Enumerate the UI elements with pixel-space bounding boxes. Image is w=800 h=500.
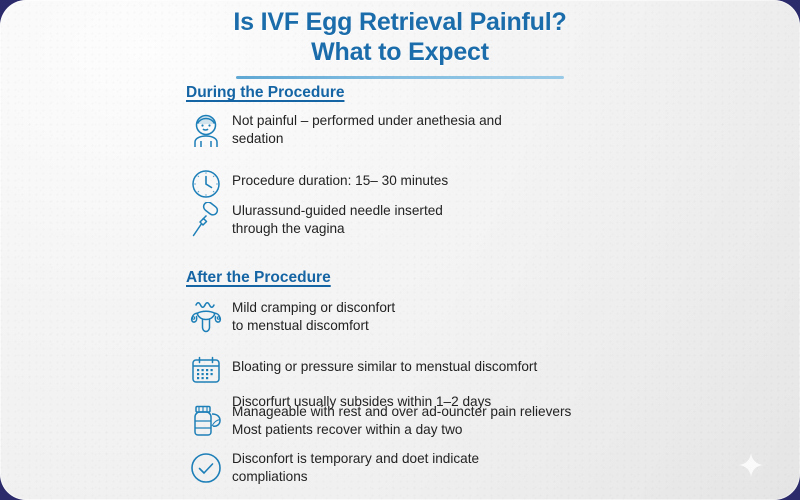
slide-title: Is IVF Egg Retrieval Painful? What to Ex…	[0, 8, 800, 79]
list-item: Manageable with rest and over ad-ouncter…	[186, 401, 571, 441]
list-item: Ulurassund-guided needle inserted throug…	[186, 200, 443, 240]
list-item-text: Not painful – performed under anethesia …	[232, 110, 502, 149]
patient-person-icon	[186, 110, 226, 150]
list-item-text: Procedure duration: 15– 30 minutes	[232, 164, 448, 190]
list-item: Procedure duration: 15– 30 minutes	[186, 164, 448, 204]
sparkle-icon	[738, 452, 764, 478]
section-heading-during-the-procedure: During the Procedure	[186, 84, 344, 102]
calendar-icon	[186, 350, 226, 390]
medicine-bottle-leaf-icon	[186, 401, 226, 441]
list-item: Not painful – performed under anethesia …	[186, 110, 502, 150]
ultrasound-probe-needle-icon	[186, 200, 226, 240]
title-line-1: Is IVF Egg Retrieval Painful?	[0, 8, 800, 38]
list-item-text: Mild cramping or disconfort to menstual …	[232, 297, 395, 336]
title-divider	[236, 76, 564, 79]
list-item-text: Manageable with rest and over ad-ouncter…	[232, 401, 571, 440]
list-item-text: Disconfort is temporary and doet indicat…	[232, 448, 479, 487]
list-item: Mild cramping or disconfort to menstual …	[186, 297, 395, 337]
check-circle-icon	[186, 448, 226, 488]
section-heading-after-the-procedure: After the Procedure	[186, 269, 331, 287]
list-item: Bloating or pressure similar to menstual…	[186, 350, 537, 390]
title-line-2: What to Expect	[0, 38, 800, 68]
uterus-cramping-icon	[186, 297, 226, 337]
list-item-text: Ulurassund-guided needle inserted throug…	[232, 200, 443, 239]
list-item: Disconfort is temporary and doet indicat…	[186, 448, 479, 488]
slide-canvas: Is IVF Egg Retrieval Painful? What to Ex…	[0, 0, 800, 500]
clock-icon	[186, 164, 226, 204]
list-item-text: Bloating or pressure similar to menstual…	[232, 350, 537, 376]
